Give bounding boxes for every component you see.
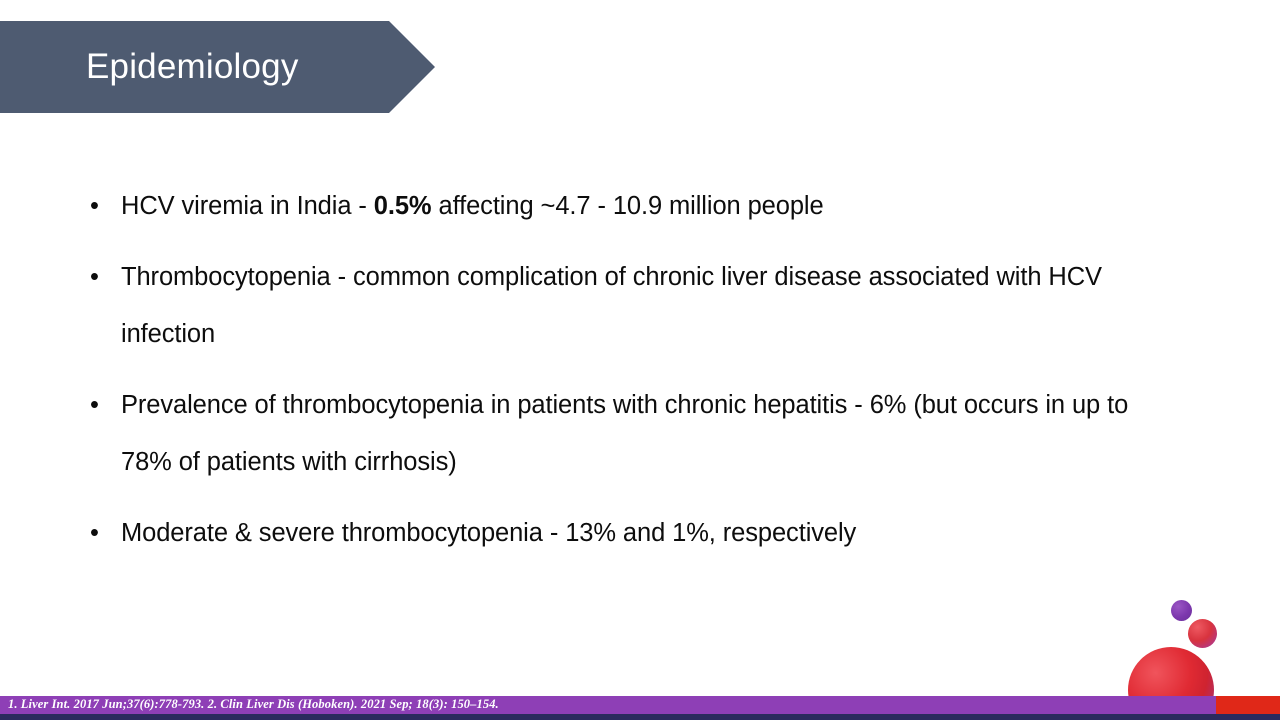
footer-bar-accent [1216,696,1280,714]
bullet-text: Thrombocytopenia - common complication o… [121,249,1160,363]
footer-bottom-strip [0,714,1280,720]
list-item: • Thrombocytopenia - common complication… [90,249,1160,363]
bullet-text-part-1: HCV viremia in India - [121,192,374,220]
list-item: • Prevalence of thrombocytopenia in pati… [90,377,1160,491]
citation-text: 1. Liver Int. 2017 Jun;37(6):778-793. 2.… [8,696,499,713]
list-item: • HCV viremia in India - 0.5% affecting … [90,178,1160,235]
slide-canvas: Epidemiology • HCV viremia in India - 0.… [0,0,1280,720]
bullet-text-part-2: affecting ~4.7 - 10.9 million people [432,192,824,220]
bullet-point-icon: • [90,249,121,306]
list-item: • Moderate & severe thrombocytopenia - 1… [90,505,1160,562]
bubble-medium-icon [1188,619,1217,648]
bullet-point-icon: • [90,505,121,562]
bubble-small-icon [1171,600,1192,621]
bullet-text: Prevalence of thrombocytopenia in patien… [121,377,1160,491]
bullet-point-icon: • [90,377,121,434]
bullet-text-emphasis: 0.5% [374,192,432,220]
bullet-text: Moderate & severe thrombocytopenia - 13%… [121,505,1160,562]
bullet-point-icon: • [90,178,121,235]
bullet-list: • HCV viremia in India - 0.5% affecting … [90,178,1160,562]
bullet-text: HCV viremia in India - 0.5% affecting ~4… [121,178,1160,235]
page-title: Epidemiology [86,21,406,113]
